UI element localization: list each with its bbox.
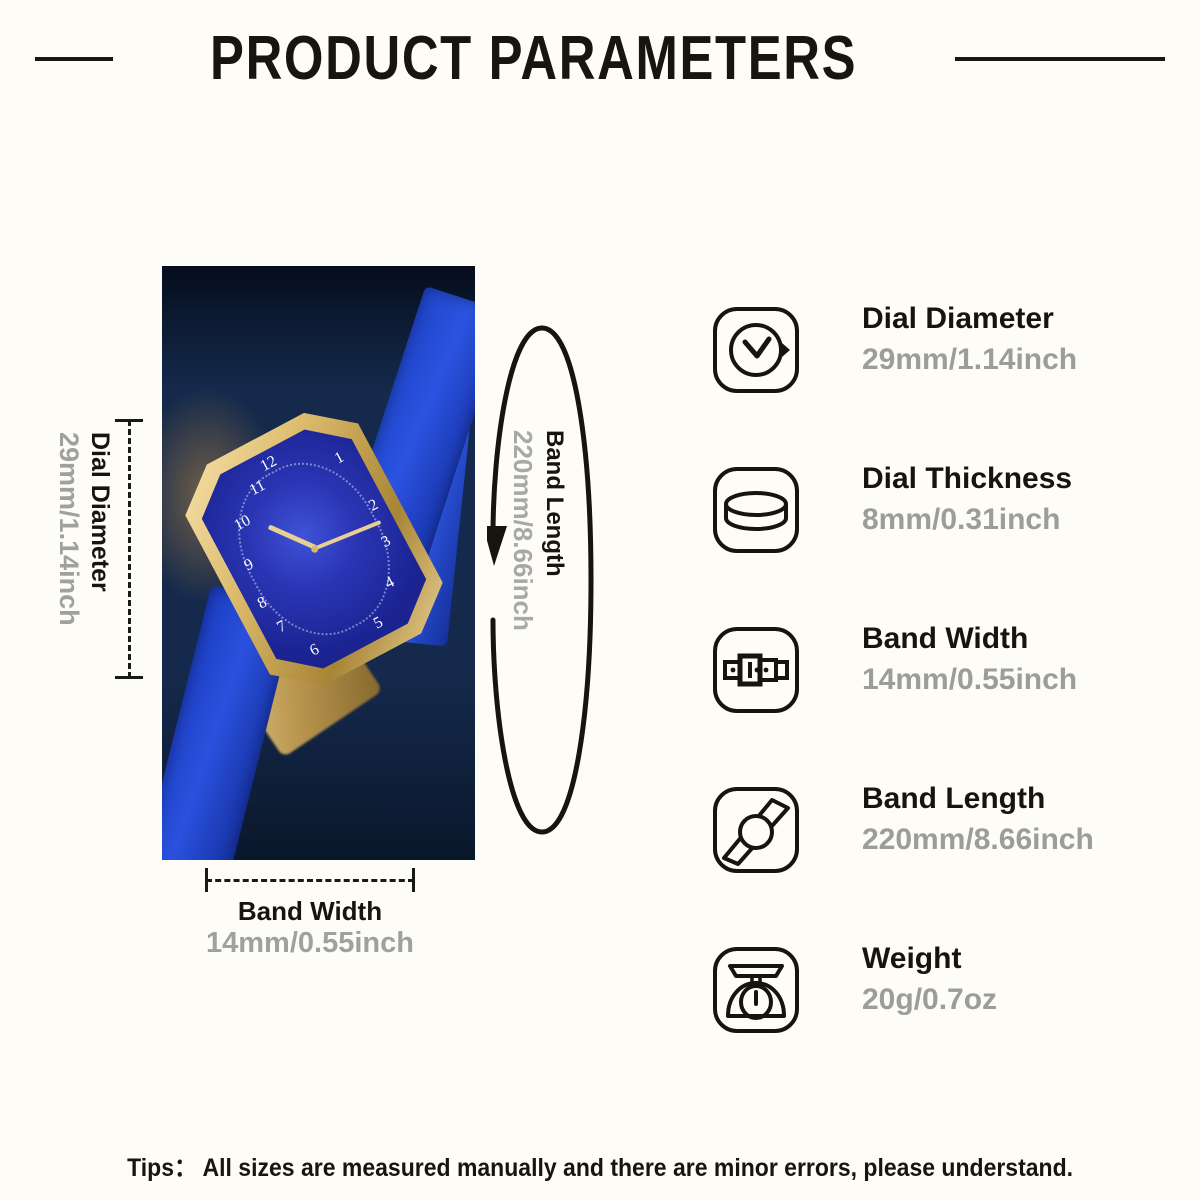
header-rule-left: [35, 57, 113, 61]
band-width-label: Band Width: [130, 896, 490, 928]
strap-icon: [712, 786, 800, 874]
watch-dial-icon: [712, 306, 800, 394]
spec-name: Dial Diameter: [862, 300, 1162, 338]
buckle-icon: [712, 626, 800, 714]
band-width-measure-line: [206, 879, 414, 882]
dial-diameter-value: 29mm/1.14inch: [55, 432, 82, 626]
page-header: PRODUCT PARAMETERS: [0, 14, 1200, 104]
product-parameters-page: PRODUCT PARAMETERS 12 1 2 3 4 5 6 7: [0, 0, 1200, 1200]
page-footer: Tips： All sizes are measured manually an…: [0, 1148, 1200, 1184]
spec-value: 8mm/0.31inch: [862, 500, 1162, 539]
spec-text-band-length: Band Length 220mm/8.66inch: [862, 780, 1162, 859]
spec-text-dial-diameter: Dial Diameter 29mm/1.14inch: [862, 300, 1162, 379]
band-length-loop: [487, 320, 597, 840]
spec-name: Band Length: [862, 780, 1162, 818]
disc-thickness-icon: [712, 466, 800, 554]
page-title: PRODUCT PARAMETERS: [210, 28, 857, 90]
spec-text-dial-thickness: Dial Thickness 8mm/0.31inch: [862, 460, 1162, 539]
dial-number-1: 1: [332, 450, 347, 468]
spec-name: Band Width: [862, 620, 1162, 658]
spec-value: 29mm/1.14inch: [862, 340, 1162, 379]
spec-value: 14mm/0.55inch: [862, 660, 1162, 699]
dial-diameter-label: Dial Diameter: [87, 432, 112, 592]
spec-row-weight: Weight 20g/0.7oz: [712, 940, 1152, 1100]
dial-diameter-measure-line: [128, 420, 131, 678]
dial-number-5: 5: [371, 614, 386, 632]
spec-row-dial-diameter: Dial Diameter 29mm/1.14inch: [712, 300, 1152, 460]
spec-value: 220mm/8.66inch: [862, 820, 1162, 859]
spec-row-band-length: Band Length 220mm/8.66inch: [712, 780, 1152, 940]
product-photo: 12 1 2 3 4 5 6 7 8 9 10 11: [162, 266, 475, 860]
spec-name: Weight: [862, 940, 1162, 978]
spec-text-weight: Weight 20g/0.7oz: [862, 940, 1162, 1019]
band-length-label: Band Length: [542, 430, 566, 577]
spec-text-band-width: Band Width 14mm/0.55inch: [862, 620, 1162, 699]
band-length-value: 220mm/8.66inch: [510, 430, 536, 631]
spec-name: Dial Thickness: [862, 460, 1162, 498]
header-rule-right: [955, 57, 1165, 61]
band-width-cap-right: [412, 868, 415, 892]
band-width-value: 14mm/0.55inch: [130, 926, 490, 961]
spec-row-band-width: Band Width 14mm/0.55inch: [712, 620, 1152, 780]
scale-icon: [712, 946, 800, 1034]
band-length-loop-icon: [487, 320, 597, 840]
spec-value: 20g/0.7oz: [862, 980, 1162, 1019]
tips-text: Tips： All sizes are measured manually an…: [127, 1148, 1073, 1184]
dial-number-6: 6: [307, 642, 322, 660]
dial-diameter-cap-bottom: [115, 676, 143, 679]
spec-list: Dial Diameter 29mm/1.14inch Dial Thickne…: [712, 300, 1152, 1100]
spec-row-dial-thickness: Dial Thickness 8mm/0.31inch: [712, 460, 1152, 620]
